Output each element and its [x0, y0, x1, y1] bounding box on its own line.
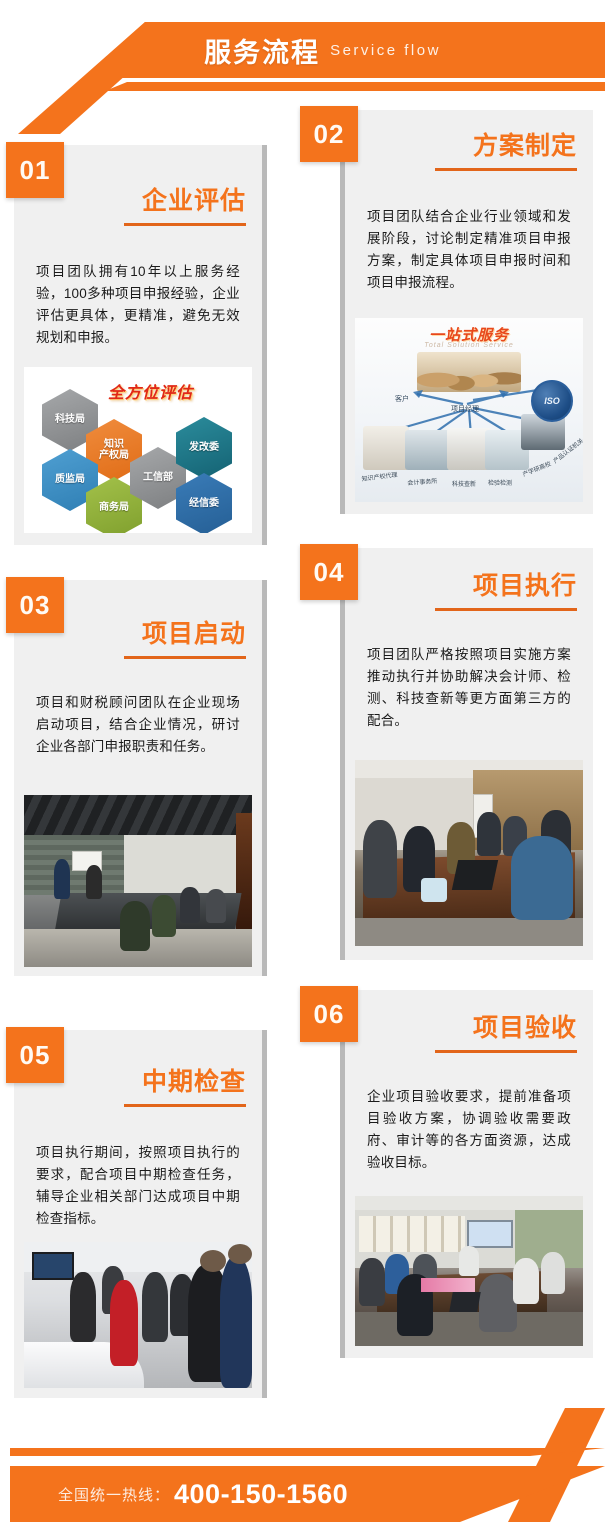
photo-head: [200, 1250, 226, 1272]
photo-bag: [421, 878, 447, 902]
photo-person: [477, 812, 501, 856]
card-03-body: 项目和财税顾问团队在企业现场启动项目，结合企业情况，研讨企业各部门申报职责和任务…: [36, 692, 240, 758]
card-06[interactable]: 项目验收 企业项目验收要求，提前准备项目验收方案，协调验收需要政府、审计等的各方…: [345, 990, 593, 1358]
footer-hotline-number[interactable]: 400-150-1560: [174, 1479, 348, 1510]
card-01[interactable]: 企业评估 项目团队拥有10年以上服务经验，100多种项目申报经验，企业评估更具体…: [14, 145, 262, 545]
card-04-body: 项目团队严格按照项目实施方案推动执行并协助解决会计师、检测、科技查新等更方面第三…: [367, 644, 571, 731]
photo-gift-boxes: [421, 1278, 475, 1292]
card-04[interactable]: 项目执行 项目团队严格按照项目实施方案推动执行并协助解决会计师、检测、科技查新等…: [345, 548, 593, 960]
photo-person-red-coat: [110, 1280, 138, 1366]
card-05-step-badge: 05: [6, 1027, 64, 1083]
photo-ceiling: [24, 795, 252, 835]
card-03-title-block: 项目启动: [50, 622, 246, 659]
photo-person: [142, 1272, 168, 1342]
card-04-step-number: 04: [314, 557, 345, 588]
photo-laptop: [452, 860, 498, 890]
card-02-step-badge: 02: [300, 106, 358, 162]
footer-accent-stripe: [10, 1448, 605, 1456]
photo-person: [152, 895, 176, 937]
photo-laptop: [449, 1292, 481, 1312]
photo-person: [54, 859, 70, 899]
card-03-title: 项目启动: [50, 622, 246, 647]
page-header: 服务流程 Service flow: [0, 0, 605, 110]
photo-person: [86, 865, 102, 899]
card-04-title-rule: [435, 608, 577, 611]
photo-certificate-grid: [359, 1216, 465, 1252]
card-02-step-number: 02: [314, 119, 345, 150]
card-06-title: 项目验收: [361, 1016, 577, 1041]
photo-person: [513, 1258, 539, 1304]
header-title-group: 服务流程 Service flow: [0, 26, 605, 74]
photo-floor: [355, 918, 583, 946]
one-stop-certification-seal: ISO: [531, 380, 573, 422]
card-06-media-photo-acceptance-meeting: [355, 1196, 583, 1346]
hex-node-label: 经信委: [189, 498, 219, 510]
photo-person: [479, 1274, 517, 1332]
photo-person: [70, 1272, 96, 1342]
card-01-body: 项目团队拥有10年以上服务经验，100多种项目申报经验，企业评估更具体，更精准，…: [36, 261, 240, 348]
hex-node-label: 发改委: [189, 442, 219, 454]
photo-person: [220, 1256, 252, 1388]
card-01-step-number: 01: [20, 155, 51, 186]
card-04-step-badge: 04: [300, 544, 358, 600]
card-06-title-rule: [435, 1050, 577, 1053]
photo-person: [180, 887, 200, 923]
card-03-step-badge: 03: [6, 577, 64, 633]
photo-projector-screen: [467, 1220, 513, 1248]
card-04-title-block: 项目执行: [361, 574, 577, 611]
card-02-title-block: 方案制定: [361, 134, 577, 171]
card-05-body: 项目执行期间，按照项目执行的要求，配合项目中期检查任务，辅导企业相关部门达成项目…: [36, 1142, 240, 1229]
card-02-title-rule: [435, 168, 577, 171]
photo-wall-display: [32, 1252, 74, 1280]
footer-hotline-label: 全国统一热线：: [58, 1484, 170, 1505]
hex-node-label: 质监局: [55, 474, 85, 486]
card-03-media-photo-conference-room-kickoff: [24, 795, 252, 967]
card-01-title-rule: [124, 223, 246, 226]
card-02-body: 项目团队结合企业行业领域和发展阶段，讨论制定精准项目申报方案，制定具体项目申报时…: [367, 206, 571, 293]
card-05-title: 中期检查: [50, 1070, 246, 1095]
card-03-step-number: 03: [20, 590, 51, 621]
card-01-title: 企业评估: [50, 189, 246, 214]
card-05-step-number: 05: [20, 1040, 51, 1071]
card-02-title: 方案制定: [361, 134, 577, 159]
one-stop-node-customer: 客户: [395, 394, 409, 404]
photo-person: [359, 1258, 385, 1306]
card-05-title-rule: [124, 1104, 246, 1107]
photo-head: [228, 1244, 252, 1264]
card-01-title-block: 企业评估: [50, 189, 246, 226]
photo-person: [206, 889, 226, 923]
page-title: 服务流程: [204, 31, 320, 70]
card-06-body: 企业项目验收要求，提前准备项目验收方案，协调验收需要政府、审计等的各方面资源，达…: [367, 1086, 571, 1173]
card-06-title-block: 项目验收: [361, 1016, 577, 1053]
card-04-title: 项目执行: [361, 574, 577, 599]
photo-person: [541, 1252, 565, 1294]
photo-person: [459, 1246, 479, 1276]
hex-node-label: 科技局: [55, 414, 85, 426]
hex-node-label: 工信部: [143, 472, 173, 484]
photo-floor: [355, 1312, 583, 1346]
page-footer: 全国统一热线： 400-150-1560: [0, 1408, 605, 1538]
one-stop-seal-label: ISO: [533, 396, 571, 406]
photo-ceiling: [355, 1196, 583, 1210]
card-01-media-hex-diagram: 全方位评估 科技局 知识 产权局 质监局 商务局 工信部 发改委 经信委: [24, 367, 252, 533]
photo-person: [363, 820, 397, 898]
hex-node-label: 知识 产权局: [99, 439, 129, 462]
card-06-step-badge: 06: [300, 986, 358, 1042]
card-02[interactable]: 方案制定 项目团队结合企业行业领域和发展阶段，讨论制定精准项目申报方案，制定具体…: [345, 110, 593, 514]
one-stop-label-3: 检验检测: [488, 478, 512, 487]
hex-diagram-title: 全方位评估: [108, 379, 193, 403]
one-stop-thumb-accounting: [405, 430, 451, 470]
card-05-title-block: 中期检查: [50, 1070, 246, 1107]
page-subtitle: Service flow: [330, 42, 441, 59]
card-06-step-number: 06: [314, 999, 345, 1030]
one-stop-node-manager: 项目经理: [451, 404, 479, 414]
card-05[interactable]: 中期检查 项目执行期间，按照项目执行的要求，配合项目中期检查任务，辅导企业相关部…: [14, 1030, 262, 1398]
hex-node-label: 商务局: [99, 502, 129, 514]
card-05-media-photo-showroom-visit: [24, 1242, 252, 1388]
one-stop-label-2: 科技查新: [452, 479, 476, 488]
card-04-media-photo-team-working-laptops: [355, 760, 583, 946]
card-03[interactable]: 项目启动 项目和财税顾问团队在企业现场启动项目，结合企业情况，研讨企业各部门申报…: [14, 580, 262, 976]
photo-person: [120, 901, 150, 951]
card-02-media-one-stop-diagram: 一站式服务 Total Solution Service: [355, 318, 583, 502]
card-03-title-rule: [124, 656, 246, 659]
footer-hotline-group: 全国统一热线： 400-150-1560: [58, 1466, 348, 1522]
card-01-step-badge: 01: [6, 142, 64, 198]
one-stop-thumb-ip: [363, 426, 409, 470]
photo-wood-panel: [236, 813, 252, 933]
photo-person: [511, 836, 573, 920]
